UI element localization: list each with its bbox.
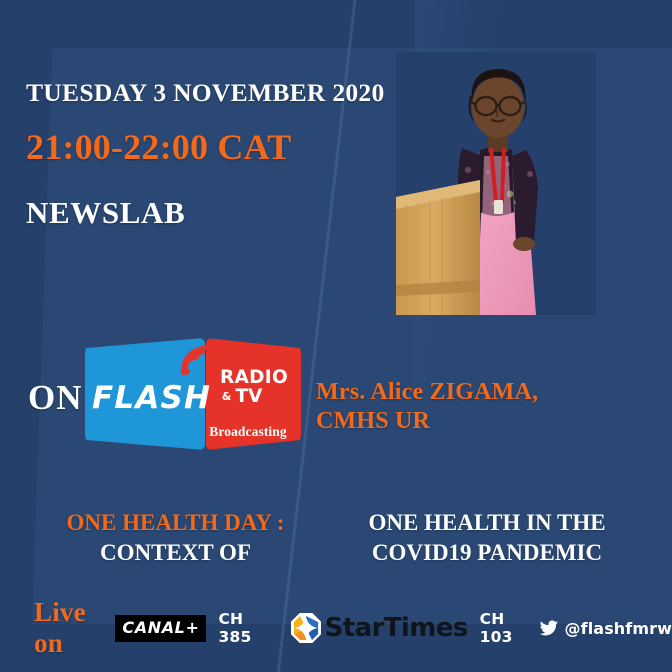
program-name: NEWSLAB bbox=[26, 195, 185, 231]
broadcast-date: TUESDAY 3 NOVEMBER 2020 bbox=[26, 78, 385, 108]
topic-day-label: ONE HEALTH DAY : bbox=[67, 510, 285, 535]
startimes-star-icon bbox=[291, 609, 321, 647]
speaker-name: Mrs. Alice ZIGAMA, CMHS UR bbox=[316, 378, 538, 436]
twitter-bird-icon[interactable] bbox=[539, 616, 559, 641]
twitter-handle: @flashfmrw bbox=[565, 619, 672, 638]
logo-ampersand: & bbox=[222, 391, 232, 402]
canal-plus-label: CANAL+ bbox=[122, 618, 199, 637]
logo-radio-tv-text: RADIO &TV bbox=[208, 369, 300, 407]
startimes-channel: CH 103 bbox=[480, 610, 530, 646]
speaker-name-line2: CMHS UR bbox=[316, 407, 538, 436]
on-label: ON bbox=[28, 378, 83, 418]
speaker-name-line1: Mrs. Alice ZIGAMA, bbox=[316, 378, 538, 407]
topic-left-column: ONE HEALTH DAY : CONTEXT OF bbox=[28, 508, 323, 569]
speaker-photo-illustration bbox=[396, 52, 596, 315]
live-channels-bar: Live on CANAL+ CH 385 StarTimes CH 103 @… bbox=[0, 604, 672, 652]
promo-poster: TUESDAY 3 NOVEMBER 2020 21:00-22:00 CAT … bbox=[0, 0, 672, 672]
broadcast-time: 21:00-22:00 CAT bbox=[26, 126, 291, 168]
topic-right-line1: ONE HEALTH IN THE bbox=[368, 510, 605, 535]
topic-right-column: ONE HEALTH IN THE COVID19 PANDEMIC bbox=[322, 508, 652, 569]
speaker-photo bbox=[396, 52, 596, 315]
canal-plus-logo[interactable]: CANAL+ bbox=[115, 615, 206, 642]
topic-left-line2: CONTEXT OF bbox=[100, 540, 251, 565]
topic-block: ONE HEALTH DAY : CONTEXT OF ONE HEALTH I… bbox=[0, 508, 672, 580]
logo-tagline: Broadcasting bbox=[195, 424, 301, 440]
logo-brand-text: FLASH bbox=[92, 380, 208, 416]
canal-plus-channel: CH 385 bbox=[218, 610, 268, 646]
flash-radio-tv-logo[interactable]: FLASH RADIO &TV Broadcasting bbox=[85, 331, 301, 457]
logo-tv-text: TV bbox=[235, 388, 262, 407]
startimes-label: StarTimes bbox=[325, 613, 468, 643]
live-on-label: Live on bbox=[34, 597, 103, 659]
topic-right-line2: COVID19 PANDEMIC bbox=[372, 540, 602, 565]
